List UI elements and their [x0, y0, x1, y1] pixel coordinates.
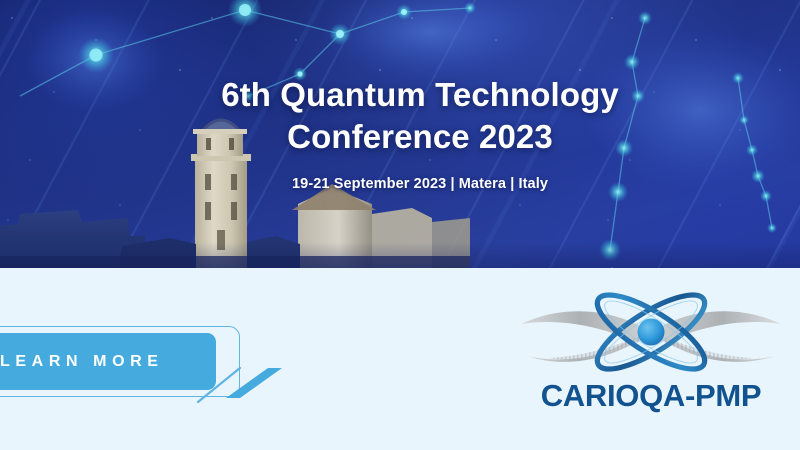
conference-banner: 6th Quantum Technology Conference 2023 1…	[0, 0, 800, 450]
title-line-1: 6th Quantum Technology	[221, 76, 619, 113]
title-line-2: Conference 2023	[287, 118, 553, 155]
logo-wordmark: CARIOQA-PMP	[505, 378, 797, 414]
learn-more-button[interactable]: LEARN MORE	[0, 333, 216, 390]
hero-bottom-fade	[0, 242, 800, 268]
event-details-subtitle: 19-21 September 2023 | Matera | Italy	[160, 176, 680, 192]
carioqa-pmp-logo: CARIOQA-PMP	[505, 278, 797, 433]
learn-more-cta-group: LEARN MORE	[0, 326, 248, 398]
footer-section: LEARN MORE	[0, 268, 800, 450]
hero-text-block: 6th Quantum Technology Conference 2023 1…	[160, 74, 680, 192]
hero-section: 6th Quantum Technology Conference 2023 1…	[0, 0, 800, 268]
page-title: 6th Quantum Technology Conference 2023	[160, 74, 680, 157]
diagonal-slash-decoration	[196, 362, 286, 404]
atom-orbit-icon	[505, 278, 797, 388]
